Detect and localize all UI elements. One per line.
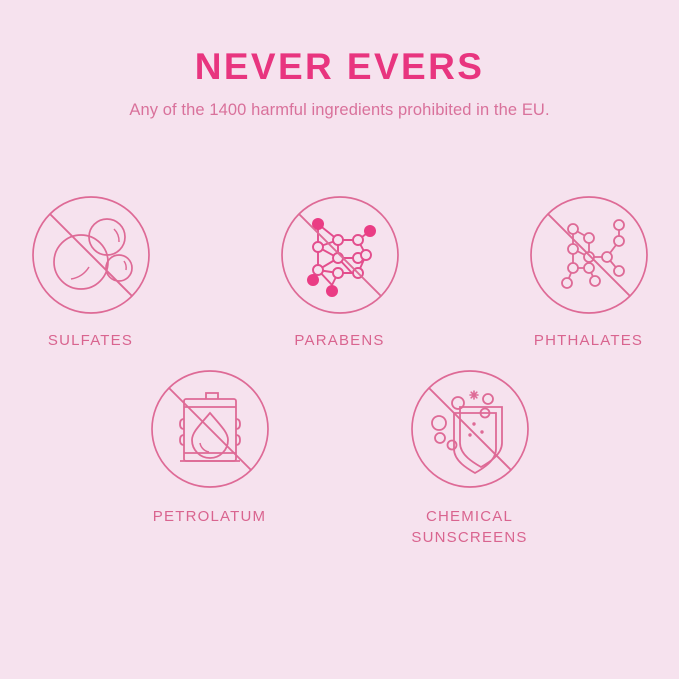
ingredient-item-parabens: PARABENS [249, 195, 430, 351]
no-petrolatum-icon [150, 369, 270, 489]
ingredient-item-petrolatum: PETROLATUM [115, 369, 305, 527]
ingredient-row-2: PETROLATUM [0, 369, 679, 548]
no-chemical-sunscreens-icon [410, 369, 530, 489]
never-evers-infographic: NEVER EVERS Any of the 1400 harmful ingr… [0, 0, 679, 679]
ingredient-label: PARABENS [294, 331, 384, 351]
ingredient-row-1: SULFATES [0, 195, 679, 351]
ingredient-item-phthalates: PHTHALATES [498, 195, 679, 351]
no-sulfates-icon [31, 195, 151, 315]
ingredient-item-sulfates: SULFATES [0, 195, 181, 351]
ingredient-grid: SULFATES [0, 195, 679, 548]
ingredient-label: CHEMICAL SUNSCREENS [411, 507, 527, 548]
ingredient-item-chemical-sunscreens: CHEMICAL SUNSCREENS [375, 369, 565, 548]
no-phthalates-icon [529, 195, 649, 315]
ingredient-label: PHTHALATES [534, 331, 643, 351]
ingredient-label: PETROLATUM [153, 507, 266, 527]
page-title: NEVER EVERS [0, 0, 679, 87]
no-parabens-icon [280, 195, 400, 315]
page-subtitle: Any of the 1400 harmful ingredients proh… [0, 87, 679, 121]
header: NEVER EVERS Any of the 1400 harmful ingr… [0, 0, 679, 121]
ingredient-label: SULFATES [48, 331, 133, 351]
